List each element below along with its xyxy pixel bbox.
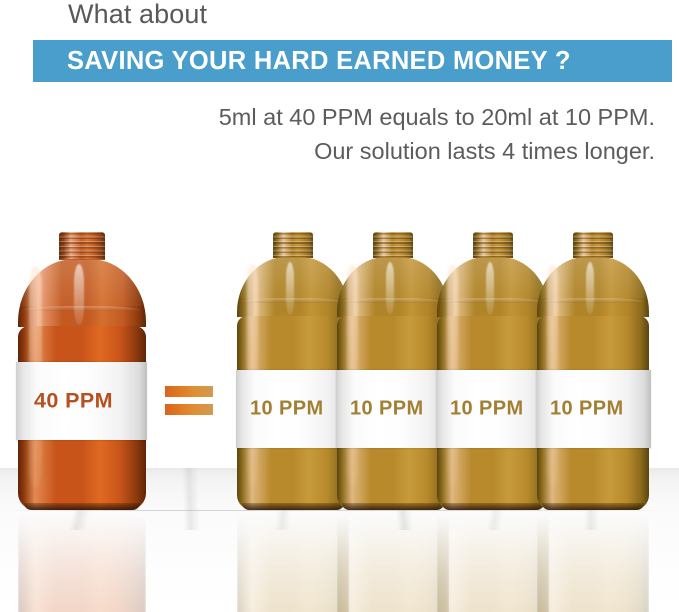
kicker-text: What about <box>68 0 207 30</box>
bottle-10ppm-3-specular-highlight <box>486 262 494 315</box>
bottle-10ppm-2-specular-highlight <box>386 262 394 315</box>
bottle-10ppm-1-neck <box>273 232 313 258</box>
bottle-40ppm-label: 40 PPM <box>16 362 147 440</box>
bottle-10ppm-3: 10 PPM <box>437 232 549 510</box>
bottle-40ppm-label-text: 40 PPM <box>34 389 113 414</box>
bottle-10ppm-3-reflection-body <box>437 510 549 612</box>
subcopy-line-2: Our solution lasts 4 times longer. <box>35 134 655 168</box>
bottle-40ppm-neck-threads <box>59 232 105 260</box>
bottle-10ppm-2-label: 10 PPM <box>336 370 451 448</box>
bottle-10ppm-1-label: 10 PPM <box>236 370 351 448</box>
bottle-10ppm-1: 10 PPM <box>237 232 349 510</box>
bottle-10ppm-1-neck-threads <box>273 232 313 258</box>
bottle-10ppm-2-base-rim <box>342 503 444 510</box>
headline-banner-text: SAVING YOUR HARD EARNED MONEY ? <box>67 40 571 82</box>
bottle-40ppm-base-rim <box>24 503 140 510</box>
promo-graphic: What about SAVING YOUR HARD EARNED MONEY… <box>0 0 679 612</box>
bottle-10ppm-4-label: 10 PPM <box>536 370 651 448</box>
equals-bar-top <box>165 386 213 397</box>
bottle-10ppm-3-neck-threads <box>473 232 513 258</box>
bottle-10ppm-1-label-text: 10 PPM <box>250 398 324 421</box>
bottle-10ppm-4-label-text: 10 PPM <box>550 398 624 421</box>
bottle-10ppm-4-specular-highlight <box>586 262 594 315</box>
bottle-40ppm-neck <box>59 232 105 260</box>
bottle-10ppm-2-label-text: 10 PPM <box>350 398 424 421</box>
bottle-10ppm-2-neck <box>373 232 413 258</box>
bottle-10ppm-4: 10 PPM <box>537 232 649 510</box>
subcopy-block: 5ml at 40 PPM equals to 20ml at 10 PPM. … <box>35 100 655 168</box>
bottle-10ppm-4-neck <box>573 232 613 258</box>
bottle-10ppm-3-reflection <box>437 510 549 612</box>
bottle-10ppm-1-base-rim <box>242 503 344 510</box>
equals-bar-bottom <box>165 404 213 415</box>
subcopy-line-1: 5ml at 40 PPM equals to 20ml at 10 PPM. <box>35 100 655 134</box>
bottle-10ppm-1-reflection <box>237 510 349 612</box>
bottle-40ppm-reflection-body <box>18 510 146 612</box>
bottle-40ppm-reflection <box>18 510 146 612</box>
bottle-40ppm-specular-highlight <box>74 264 84 325</box>
bottle-10ppm-2-reflection <box>337 510 449 612</box>
bottle-10ppm-1-reflection-body <box>237 510 349 612</box>
bottle-10ppm-3-label-text: 10 PPM <box>450 398 524 421</box>
bottle-10ppm-2-neck-threads <box>373 232 413 258</box>
bottle-10ppm-2-reflection-body <box>337 510 449 612</box>
bottle-10ppm-1-specular-highlight <box>286 262 294 315</box>
bottle-10ppm-2: 10 PPM <box>337 232 449 510</box>
bottle-40ppm: 40 PPM <box>18 232 146 510</box>
equals-sign <box>165 386 213 415</box>
bottle-10ppm-4-neck-threads <box>573 232 613 258</box>
bottle-10ppm-4-reflection-body <box>537 510 649 612</box>
bottle-10ppm-4-base-rim <box>542 503 644 510</box>
bottle-10ppm-3-label: 10 PPM <box>436 370 551 448</box>
bottle-10ppm-3-base-rim <box>442 503 544 510</box>
bottle-10ppm-3-neck <box>473 232 513 258</box>
bottle-10ppm-4-reflection <box>537 510 649 612</box>
headline-banner: SAVING YOUR HARD EARNED MONEY ? <box>33 40 672 82</box>
